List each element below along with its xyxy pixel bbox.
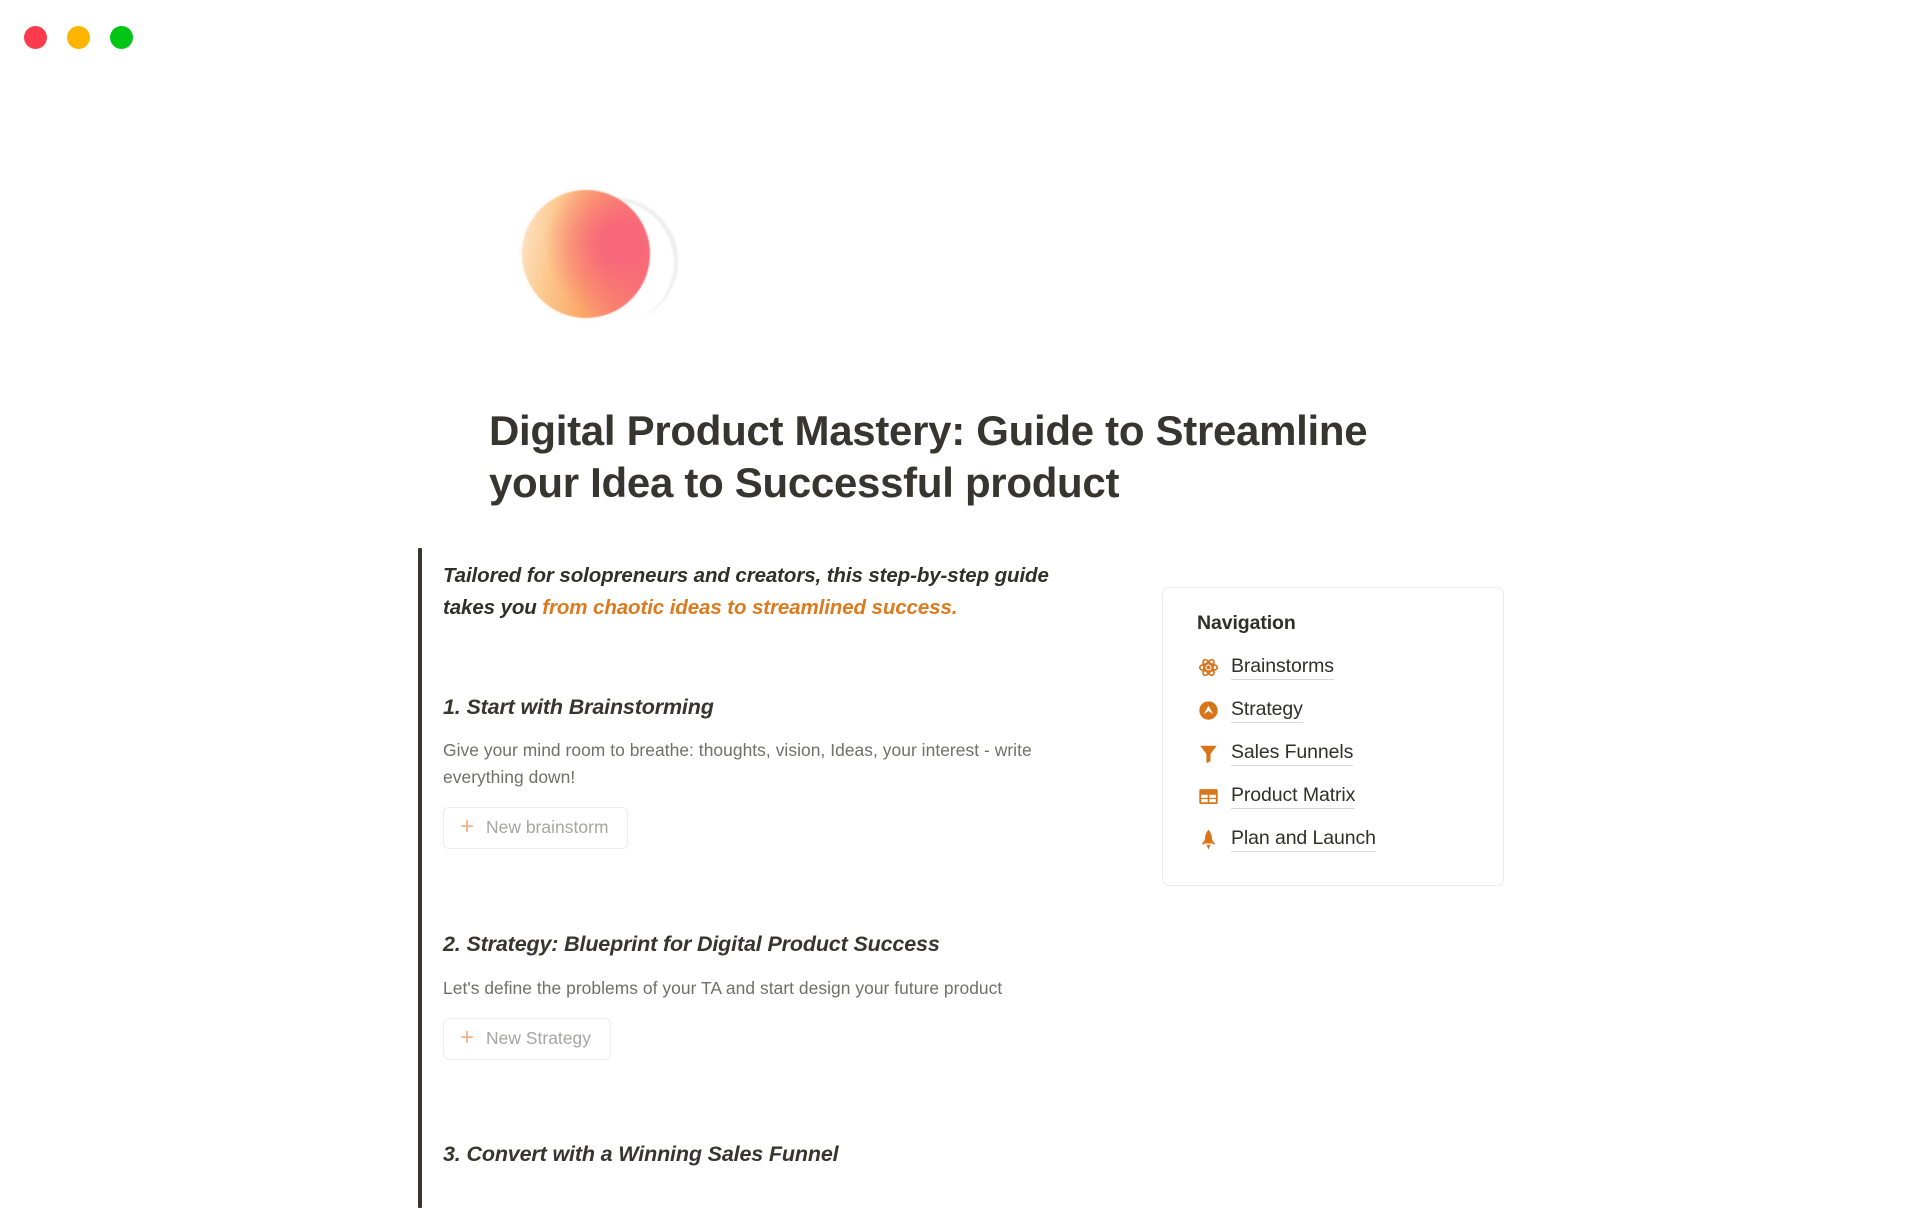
page-title[interactable]: Digital Product Mastery: Guide to Stream… [489, 405, 1409, 508]
document-cover-icon[interactable] [516, 180, 661, 340]
nav-item-product-matrix[interactable]: Product Matrix [1197, 775, 1477, 818]
new-strategy-label: New Strategy [486, 1028, 591, 1049]
nav-label-brainstorms: Brainstorms [1231, 655, 1334, 680]
nav-item-strategy[interactable]: Strategy [1197, 689, 1477, 732]
window-traffic-lights [24, 26, 133, 49]
navigation-title: Navigation [1197, 612, 1477, 635]
rocket-icon [1197, 829, 1219, 851]
sphere-gradient [522, 190, 650, 318]
atom-icon [1197, 657, 1219, 679]
callout-vertical-bar [418, 548, 422, 1208]
new-brainstorm-label: New brainstorm [486, 817, 608, 838]
nav-item-plan-and-launch[interactable]: Plan and Launch [1197, 818, 1477, 861]
section-brainstorming: 1. Start with Brainstorming Give your mi… [443, 694, 1103, 849]
new-brainstorm-button[interactable]: + New brainstorm [443, 807, 628, 849]
nav-label-sales-funnels: Sales Funnels [1231, 741, 1353, 766]
intro-paragraph: Tailored for solopreneurs and creators, … [443, 560, 1103, 624]
section-strategy: 2. Strategy: Blueprint for Digital Produ… [443, 931, 1103, 1060]
window-close-button[interactable] [24, 26, 47, 49]
nav-item-brainstorms[interactable]: Brainstorms [1197, 646, 1477, 689]
navigation-panel: Navigation Brainstorms Strategy [1162, 587, 1504, 886]
section-sales-funnel: 3. Convert with a Winning Sales Funnel [443, 1141, 1103, 1169]
section-body-text: Give your mind room to breathe: thoughts… [443, 737, 1103, 789]
new-strategy-button[interactable]: + New Strategy [443, 1018, 611, 1060]
plus-icon: + [460, 815, 474, 839]
section-heading[interactable]: 3. Convert with a Winning Sales Funnel [443, 1141, 1103, 1169]
document-page: Digital Product Mastery: Guide to Stream… [0, 0, 1920, 1200]
nav-label-plan-and-launch: Plan and Launch [1231, 827, 1376, 852]
window-minimize-button[interactable] [67, 26, 90, 49]
plus-icon: + [460, 1026, 474, 1050]
table-grid-icon [1197, 786, 1219, 808]
window-zoom-button[interactable] [110, 26, 133, 49]
nav-label-strategy: Strategy [1231, 698, 1303, 723]
funnel-icon [1197, 743, 1219, 765]
nav-label-product-matrix: Product Matrix [1231, 784, 1355, 809]
content-column: Tailored for solopreneurs and creators, … [443, 548, 1103, 1169]
circle-chevron-up-icon [1197, 700, 1219, 722]
nav-item-sales-funnels[interactable]: Sales Funnels [1197, 732, 1477, 775]
section-body-text: Let's define the problems of your TA and… [443, 975, 1103, 1001]
section-heading[interactable]: 2. Strategy: Blueprint for Digital Produ… [443, 931, 1103, 959]
section-heading[interactable]: 1. Start with Brainstorming [443, 694, 1103, 722]
intro-highlight-text: from chaotic ideas to streamlined succes… [542, 596, 957, 619]
